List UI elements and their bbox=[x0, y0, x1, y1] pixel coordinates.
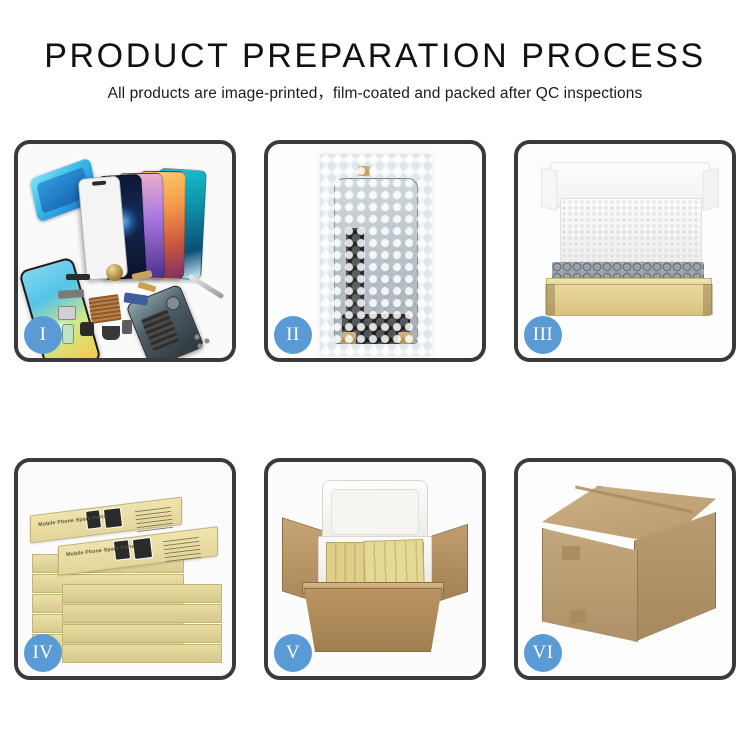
earpiece-part bbox=[102, 326, 120, 340]
sim-tray-part bbox=[58, 306, 76, 320]
carton-tape-upper bbox=[562, 546, 580, 560]
page-subtitle: All products are image-printed，film-coat… bbox=[0, 84, 750, 104]
process-step-panel-1: I bbox=[14, 140, 236, 362]
step-badge: II bbox=[274, 316, 312, 354]
phone-glass-panel bbox=[78, 175, 129, 280]
box-feature-list bbox=[163, 536, 201, 562]
process-step-panel-6: VI bbox=[514, 458, 736, 680]
header: PRODUCT PREPARATION PROCESS All products… bbox=[0, 36, 750, 104]
bubble-texture-shadow bbox=[320, 154, 432, 356]
process-step-panel-2: II bbox=[264, 140, 486, 362]
step-badge: IV bbox=[24, 634, 62, 672]
antenna-part bbox=[138, 282, 157, 293]
product-preparation-process-page: PRODUCT PREPARATION PROCESS All products… bbox=[0, 0, 750, 750]
ribbon-cable-part bbox=[123, 292, 148, 305]
step-badge: VI bbox=[524, 634, 562, 672]
process-step-panel-3: III bbox=[514, 140, 736, 362]
screws-part bbox=[194, 334, 216, 350]
box-phone-image bbox=[132, 537, 153, 560]
stacked-box bbox=[62, 604, 222, 623]
step-badge: III bbox=[524, 316, 562, 354]
step-badge: V bbox=[274, 634, 312, 672]
speaker-module-part bbox=[106, 264, 123, 281]
box-front-panel bbox=[546, 284, 712, 316]
process-step-grid: I II bbox=[14, 140, 736, 688]
battery-part bbox=[62, 324, 74, 344]
flex-cable-part bbox=[66, 274, 90, 280]
button-part bbox=[122, 320, 132, 334]
carton-tape-lower bbox=[570, 610, 586, 623]
white-foam-sheet bbox=[560, 198, 702, 266]
carton-body bbox=[304, 588, 442, 652]
styrofoam-lid bbox=[322, 480, 428, 544]
camera-module-part bbox=[80, 322, 94, 336]
chip-array-part bbox=[88, 294, 121, 324]
carton-front-face bbox=[542, 528, 638, 642]
page-title: PRODUCT PREPARATION PROCESS bbox=[0, 36, 750, 76]
stacked-box bbox=[62, 584, 222, 603]
bubble-wrap-bag bbox=[320, 154, 432, 356]
stacked-box bbox=[62, 644, 222, 663]
step-badge: I bbox=[24, 316, 62, 354]
stacked-box bbox=[62, 624, 222, 643]
phone-screen-fan bbox=[78, 154, 228, 279]
process-step-panel-4: Mobile Phone Spare Parts Mobile Phone Sp… bbox=[14, 458, 236, 680]
process-step-panel-5: V bbox=[264, 458, 486, 680]
box-feature-list bbox=[135, 506, 173, 532]
